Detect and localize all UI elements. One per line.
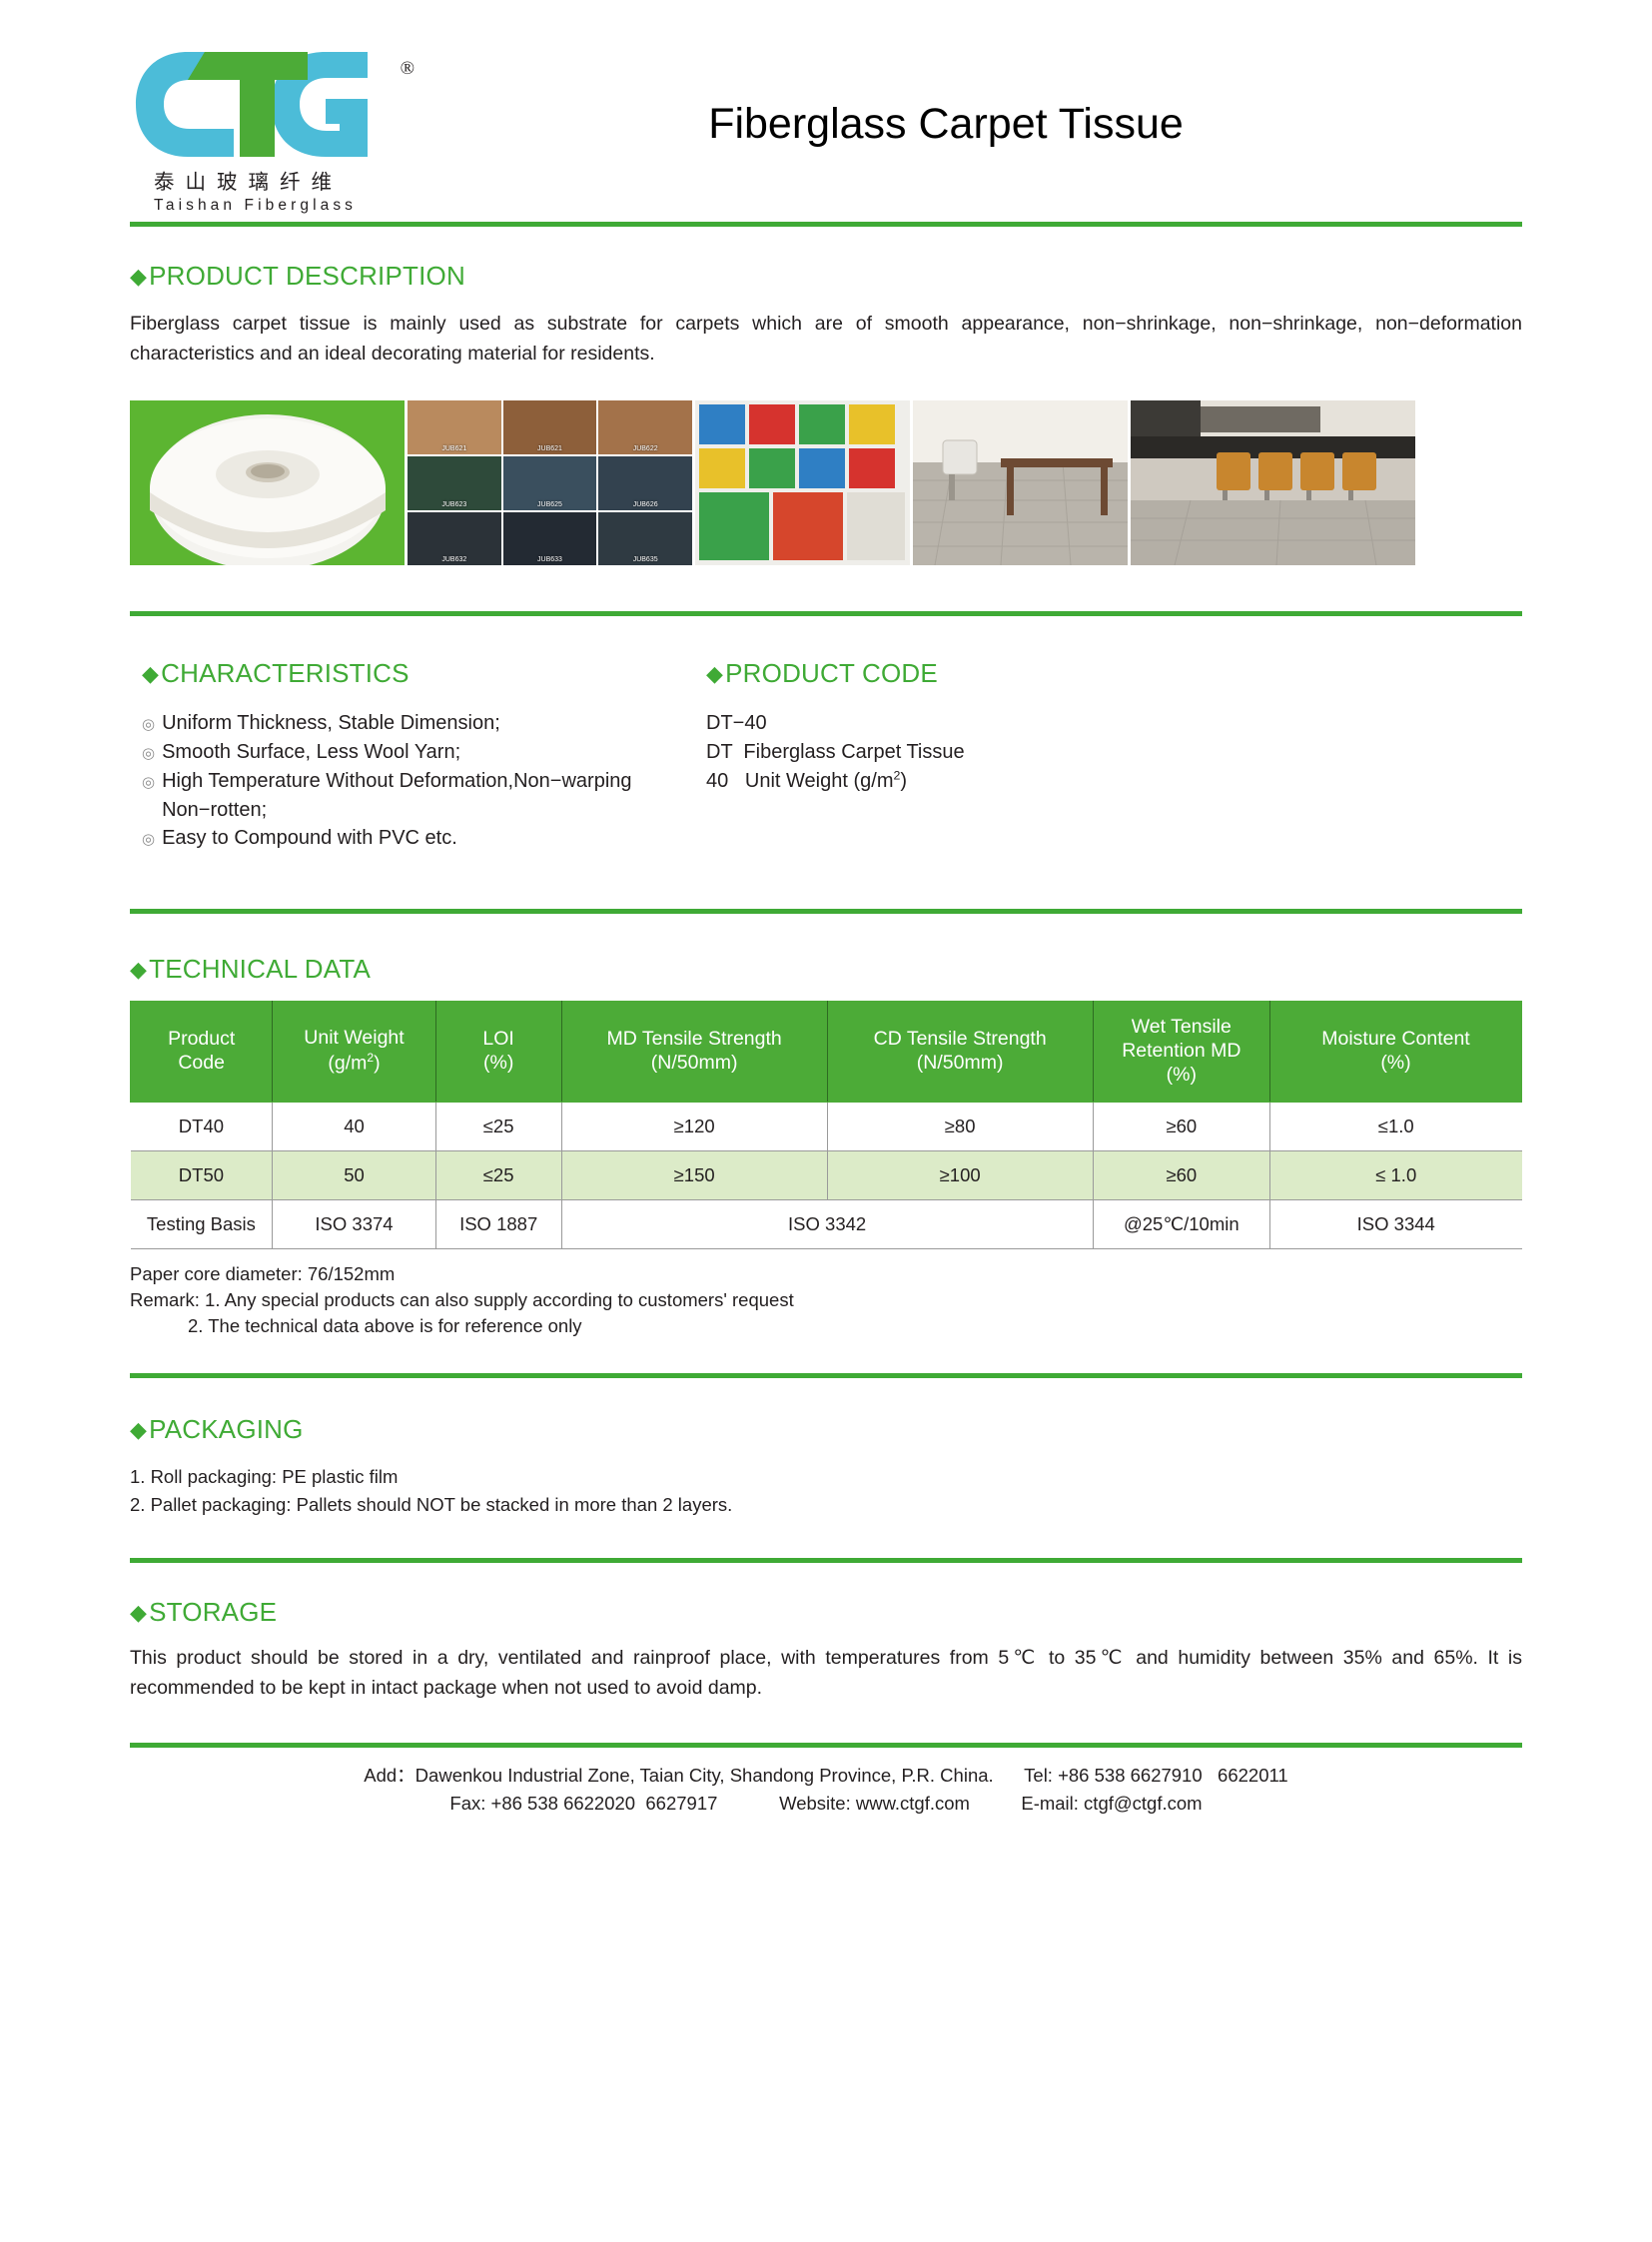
header-unit-close: ) [374, 1053, 381, 1075]
heading-label: PACKAGING [149, 1414, 303, 1445]
footer-contact-line: Fax: +86 538 6622020 6627917 Website: ww… [130, 1790, 1522, 1818]
cell-loi: ≤25 [435, 1150, 561, 1199]
product-code-details: DT−40 DT Fiberglass Carpet Tissue 40 Uni… [706, 709, 1522, 795]
weight-suffix: ) [900, 770, 907, 792]
cell-testing-basis-unit-weight: ISO 3374 [273, 1199, 435, 1248]
page-footer: Add：Dawenkou Industrial Zone, Taian City… [130, 1748, 1522, 1818]
footer-address-line: Add：Dawenkou Industrial Zone, Taian City… [130, 1762, 1522, 1790]
gallery-image-conference-room [1131, 400, 1415, 565]
column-header-wet-tensile-retention: Wet Tensile Retention MD (%) [1093, 1002, 1269, 1102]
list-item-label: Easy to Compound with PVC etc. [162, 824, 457, 853]
header-line: (N/50mm) [830, 1052, 1091, 1076]
heading-label: PRODUCT CODE [725, 658, 938, 689]
double-circle-bullet-icon: ◎ [142, 714, 155, 736]
cell-testing-basis-wet-tensile: @25℃/10min [1093, 1199, 1269, 1248]
product-code-dt-meaning: DT Fiberglass Carpet Tissue [706, 738, 1522, 767]
cell-wet-tensile: ≥60 [1093, 1102, 1269, 1150]
column-header-product-code: Product Code [131, 1002, 273, 1102]
heading-label: PRODUCT DESCRIPTION [149, 261, 465, 292]
section-product-description: ◆ PRODUCT DESCRIPTION Fiberglass carpet … [130, 227, 1522, 565]
company-logo: ® 泰山玻璃纤维 Taishan Fiberglass [130, 52, 429, 215]
weight-prefix: 40 Unit Weight (g/m [706, 770, 893, 792]
technical-data-notes: Paper core diameter: 76/152mm Remark: 1.… [130, 1261, 1522, 1340]
cell-moisture: ≤ 1.0 [1269, 1150, 1521, 1199]
cell-testing-basis-label: Testing Basis [131, 1199, 273, 1248]
cell-md-tensile: ≥120 [561, 1102, 827, 1150]
cell-product-code: DT40 [131, 1102, 273, 1150]
product-description-text: Fiberglass carpet tissue is mainly used … [130, 310, 1522, 369]
swatch: JUB633 [503, 512, 597, 566]
swatch-label: JUB622 [598, 445, 692, 452]
roll-illustration-icon [130, 400, 405, 565]
page-header: ® 泰山玻璃纤维 Taishan Fiberglass Fiberglass C… [130, 0, 1522, 222]
swatch: JUB632 [408, 512, 501, 566]
swatch: JUB621 [503, 400, 597, 454]
section-characteristics-and-code: ◆ CHARACTERISTICS ◎ Uniform Thickness, S… [130, 616, 1522, 869]
note-paper-core: Paper core diameter: 76/152mm [130, 1261, 1522, 1287]
table-header-row: Product Code Unit Weight (g/m2) LOI (%) … [131, 1002, 1522, 1102]
header-line: (%) [1096, 1064, 1267, 1088]
heading-storage: ◆ STORAGE [130, 1597, 1522, 1628]
list-item-label: Smooth Surface, Less Wool Yarn; [162, 738, 460, 767]
column-header-unit-weight: Unit Weight (g/m2) [273, 1002, 435, 1102]
cell-wet-tensile: ≥60 [1093, 1150, 1269, 1199]
datasheet-page: ® 泰山玻璃纤维 Taishan Fiberglass Fiberglass C… [0, 0, 1652, 2242]
swatch: JUB621 [408, 400, 501, 454]
header-line: CD Tensile Strength [830, 1028, 1091, 1052]
technical-data-table: Product Code Unit Weight (g/m2) LOI (%) … [130, 1001, 1522, 1248]
page-title: Fiberglass Carpet Tissue [429, 52, 1522, 149]
diamond-bullet-icon: ◆ [130, 266, 147, 288]
conference-room-illustration-icon [1131, 400, 1415, 565]
header-line: Wet Tensile [1096, 1016, 1267, 1040]
header-line: Retention MD [1096, 1040, 1267, 1064]
cell-testing-basis-tensile: ISO 3342 [561, 1199, 1093, 1248]
heading-label: STORAGE [149, 1597, 277, 1628]
cell-product-code: DT50 [131, 1150, 273, 1199]
product-code-value: DT−40 [706, 709, 1522, 738]
heading-label: TECHNICAL DATA [149, 954, 371, 985]
gallery-image-desk-interior [913, 400, 1128, 565]
logo-chinese-name: 泰山玻璃纤维 [130, 165, 429, 195]
table-row: DT50 50 ≤25 ≥150 ≥100 ≥60 ≤ 1.0 [131, 1150, 1522, 1199]
heading-technical-data: ◆ TECHNICAL DATA [130, 954, 1522, 985]
list-item: ◎ Smooth Surface, Less Wool Yarn; [142, 738, 704, 767]
logo-english-name: Taishan Fiberglass [130, 197, 429, 215]
table-row-testing-basis: Testing Basis ISO 3374 ISO 1887 ISO 3342… [131, 1199, 1522, 1248]
diamond-bullet-icon: ◆ [142, 663, 159, 685]
swatch-label: JUB632 [408, 556, 501, 563]
swatch-label: JUB621 [503, 445, 597, 452]
header-line: (g/m2) [275, 1051, 432, 1076]
colored-tiles-illustration-icon [695, 400, 910, 565]
double-circle-bullet-icon: ◎ [142, 829, 155, 851]
table-row: DT40 40 ≤25 ≥120 ≥80 ≥60 ≤1.0 [131, 1102, 1522, 1150]
diamond-bullet-icon: ◆ [706, 663, 723, 685]
diamond-bullet-icon: ◆ [130, 1602, 147, 1624]
heading-product-code: ◆ PRODUCT CODE [706, 658, 1522, 689]
swatch-label: JUB625 [503, 501, 597, 508]
column-header-md-tensile-strength: MD Tensile Strength (N/50mm) [561, 1002, 827, 1102]
header-line: Unit Weight [275, 1027, 432, 1051]
cell-unit-weight: 50 [273, 1150, 435, 1199]
swatch: JUB623 [408, 456, 501, 510]
double-circle-bullet-icon: ◎ [142, 772, 155, 794]
swatch: JUB625 [503, 456, 597, 510]
cell-loi: ≤25 [435, 1102, 561, 1150]
header-line: (N/50mm) [564, 1052, 825, 1076]
list-item: ◎ Easy to Compound with PVC etc. [142, 824, 704, 853]
swatch: JUB635 [598, 512, 692, 566]
gallery-image-colored-tiles [695, 400, 910, 565]
header-line: Moisture Content [1272, 1028, 1519, 1052]
diamond-bullet-icon: ◆ [130, 959, 147, 981]
swatch: JUB622 [598, 400, 692, 454]
list-item-label: Uniform Thickness, Stable Dimension; [162, 709, 500, 738]
list-item: 2. Pallet packaging: Pallets should NOT … [130, 1491, 1522, 1518]
list-item: ◎ Uniform Thickness, Stable Dimension; [142, 709, 704, 738]
gallery-image-carpet-swatches: JUB621 JUB621 JUB622 JUB623 JUB625 JUB62… [408, 400, 692, 565]
double-circle-bullet-icon: ◎ [142, 743, 155, 765]
heading-product-description: ◆ PRODUCT DESCRIPTION [130, 261, 1522, 292]
swatch-label: JUB633 [503, 556, 597, 563]
cell-cd-tensile: ≥80 [827, 1102, 1093, 1150]
heading-label: CHARACTERISTICS [161, 658, 410, 689]
column-header-loi: LOI (%) [435, 1002, 561, 1102]
list-item: 1. Roll packaging: PE plastic film [130, 1463, 1522, 1490]
header-line: (%) [438, 1052, 559, 1076]
registered-trademark-icon: ® [401, 58, 414, 80]
ctg-wordmark-icon [130, 52, 414, 157]
header-line: Product [133, 1028, 270, 1052]
swatch-label: JUB635 [598, 556, 692, 563]
header-line: MD Tensile Strength [564, 1028, 825, 1052]
section-packaging: ◆ PACKAGING 1. Roll packaging: PE plasti… [130, 1378, 1522, 1518]
cell-md-tensile: ≥150 [561, 1150, 827, 1199]
cell-cd-tensile: ≥100 [827, 1150, 1093, 1199]
section-storage: ◆ STORAGE This product should be stored … [130, 1563, 1522, 1703]
heading-packaging: ◆ PACKAGING [130, 1414, 1522, 1445]
product-image-gallery: JUB621 JUB621 JUB622 JUB623 JUB625 JUB62… [130, 400, 1522, 565]
product-code-weight-meaning: 40 Unit Weight (g/m2) [706, 767, 1522, 796]
heading-characteristics: ◆ CHARACTERISTICS [142, 658, 704, 689]
header-line: Code [133, 1052, 270, 1076]
list-item: ◎ High Temperature Without Deformation,N… [142, 767, 704, 825]
swatch-label: JUB623 [408, 501, 501, 508]
column-header-cd-tensile-strength: CD Tensile Strength (N/50mm) [827, 1002, 1093, 1102]
gallery-image-fiberglass-roll [130, 400, 405, 565]
section-technical-data: ◆ TECHNICAL DATA Product Code Unit Weigh… [130, 914, 1522, 1339]
swatch-label: JUB621 [408, 445, 501, 452]
desk-illustration-icon [913, 400, 1128, 565]
header-unit: (g/m [328, 1053, 367, 1075]
header-line: LOI [438, 1028, 559, 1052]
cell-unit-weight: 40 [273, 1102, 435, 1150]
ctg-logo-mark: ® [130, 52, 414, 157]
cell-moisture: ≤1.0 [1269, 1102, 1521, 1150]
swatch: JUB626 [598, 456, 692, 510]
note-remark-1: Remark: 1. Any special products can also… [130, 1287, 1522, 1313]
packaging-list: 1. Roll packaging: PE plastic film 2. Pa… [130, 1463, 1522, 1518]
list-item-label: High Temperature Without Deformation,Non… [162, 767, 704, 825]
section-product-code: ◆ PRODUCT CODE DT−40 DT Fiberglass Carpe… [704, 658, 1522, 869]
characteristics-list: ◎ Uniform Thickness, Stable Dimension; ◎… [142, 709, 704, 853]
swatch-label: JUB626 [598, 501, 692, 508]
column-header-moisture-content: Moisture Content (%) [1269, 1002, 1521, 1102]
section-characteristics: ◆ CHARACTERISTICS ◎ Uniform Thickness, S… [130, 658, 704, 869]
note-remark-2: 2. The technical data above is for refer… [130, 1313, 1522, 1339]
cell-testing-basis-loi: ISO 1887 [435, 1199, 561, 1248]
cell-testing-basis-moisture: ISO 3344 [1269, 1199, 1521, 1248]
diamond-bullet-icon: ◆ [130, 1419, 147, 1441]
storage-text: This product should be stored in a dry, … [130, 1644, 1522, 1703]
header-line: (%) [1272, 1052, 1519, 1076]
